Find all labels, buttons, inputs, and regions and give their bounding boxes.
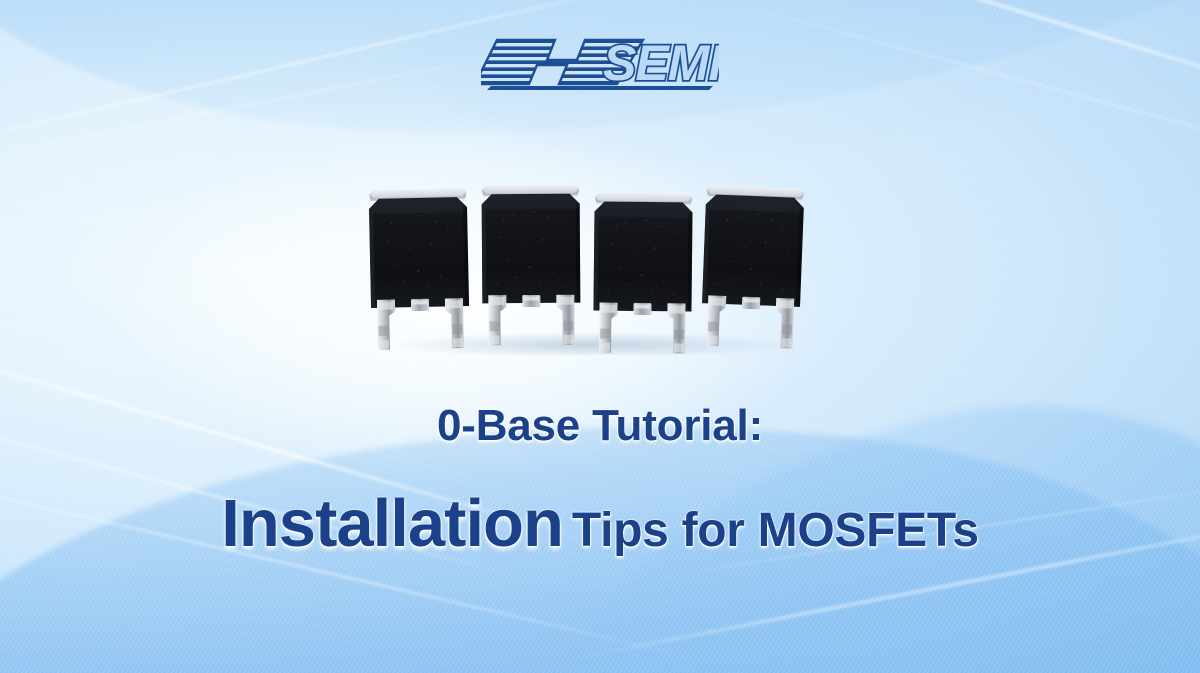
- semi-wordmark: SEMI: [603, 35, 719, 90]
- logo-underline-bar: [487, 86, 713, 90]
- mosfet-package-3: [593, 193, 693, 354]
- product-shadow: [390, 332, 790, 355]
- mosfet-dpak-packages-photo: [360, 175, 820, 355]
- kicker-text: 0-Base Tutorial:: [0, 404, 1200, 448]
- main-title-emphasis: Installation: [221, 486, 563, 561]
- mosfet-package-4: [700, 185, 804, 349]
- mosfet-package-2: [482, 185, 581, 346]
- main-title-rest: Tips for MOSFETs: [572, 504, 979, 557]
- poster-canvas: SEMI: [0, 0, 1200, 673]
- mosfet-package-1: [369, 188, 470, 350]
- hy-semi-logo-icon: SEMI: [481, 34, 719, 90]
- product-image: [360, 175, 820, 355]
- headline-block: 0-Base Tutorial: InstallationTips for MO…: [0, 404, 1200, 557]
- main-title: InstallationTips for MOSFETs: [0, 490, 1200, 557]
- brand-logo: SEMI: [0, 34, 1200, 90]
